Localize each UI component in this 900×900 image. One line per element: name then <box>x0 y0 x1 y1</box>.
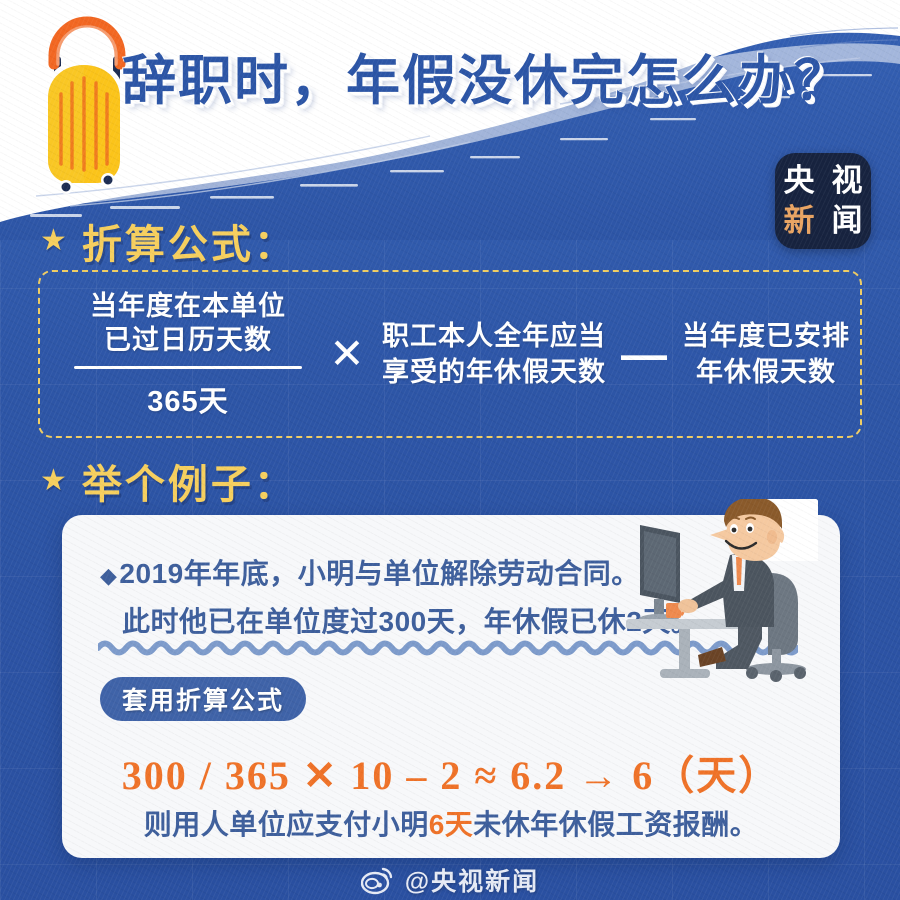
example-description-line1: 2019年年底，小明与单位解除劳动合同。 <box>119 558 639 589</box>
example-card: ◆2019年年底，小明与单位解除劳动合同。 此时他已在单位度过300天，年休假已… <box>62 515 840 858</box>
conclusion-highlight: 6天 <box>429 809 474 840</box>
infographic-poster: 辞职时，年假没休完怎么办？ 央 视 新 闻 ★ 折算公式： 当年度在本单位 已过… <box>0 0 900 900</box>
star-icon: ★ <box>40 466 70 496</box>
section-heading-formula-label: 折算公式： <box>82 212 297 270</box>
formula-term-already-taken-days: 当年度已安排 年休假天数 <box>682 318 850 390</box>
apply-formula-pill: 套用折算公式 <box>100 677 306 721</box>
formula-term3-line2: 年休假天数 <box>682 354 850 390</box>
minus-icon: — <box>606 331 682 377</box>
fraction-numerator-line2: 已过日历天数 <box>64 323 312 357</box>
footer-handle: @央视新闻 <box>405 862 539 898</box>
fraction-denominator: 365天 <box>64 378 312 420</box>
conclusion-suffix: 未休年休假工资报酬。 <box>473 809 758 840</box>
person-at-desk-illustration <box>622 499 836 683</box>
bullet-icon: ◆ <box>100 563 117 588</box>
formula-term-entitled-days: 职工本人全年应当 享受的年休假天数 <box>382 318 606 390</box>
cctv-news-logo: 央 视 新 闻 <box>775 153 871 249</box>
conversion-formula-box: 当年度在本单位 已过日历天数 365天 ✕ 职工本人全年应当 享受的年休假天数 … <box>38 270 862 438</box>
formula-term2-line1: 职工本人全年应当 <box>382 318 606 354</box>
conclusion-text: 则用人单位应支付小明6天未休年休假工资报酬。 <box>62 803 840 843</box>
footer-credit: @央视新闻 <box>0 862 900 898</box>
logo-char-wen: 闻 <box>823 201 871 241</box>
formula-term3-line1: 当年度已安排 <box>682 318 850 354</box>
logo-char-shi: 视 <box>823 161 871 201</box>
fraction-numerator-line1: 当年度在本单位 <box>64 289 312 323</box>
formula-fraction: 当年度在本单位 已过日历天数 365天 <box>64 289 312 420</box>
section-heading-example: ★ 举个例子： <box>40 452 297 510</box>
fraction-bar <box>74 366 302 369</box>
page-title: 辞职时，年假没休完怎么办？ <box>122 38 822 124</box>
conclusion-prefix: 则用人单位应支付小明 <box>144 809 429 840</box>
section-heading-example-label: 举个例子： <box>82 452 297 510</box>
apply-formula-pill-label: 套用折算公式 <box>122 681 284 717</box>
calculation-expression: 300 / 365 ✕ 10 – 2 ≈ 6.2 → 6（天） <box>62 743 840 801</box>
weibo-icon <box>361 865 395 895</box>
fraction-numerator: 当年度在本单位 已过日历天数 <box>64 289 312 357</box>
logo-char-yang: 央 <box>775 161 823 201</box>
section-heading-formula: ★ 折算公式： <box>40 212 297 270</box>
logo-char-xin: 新 <box>775 201 823 241</box>
formula-term2-line2: 享受的年休假天数 <box>382 354 606 390</box>
multiply-icon: ✕ <box>312 333 382 375</box>
star-icon: ★ <box>40 226 70 256</box>
